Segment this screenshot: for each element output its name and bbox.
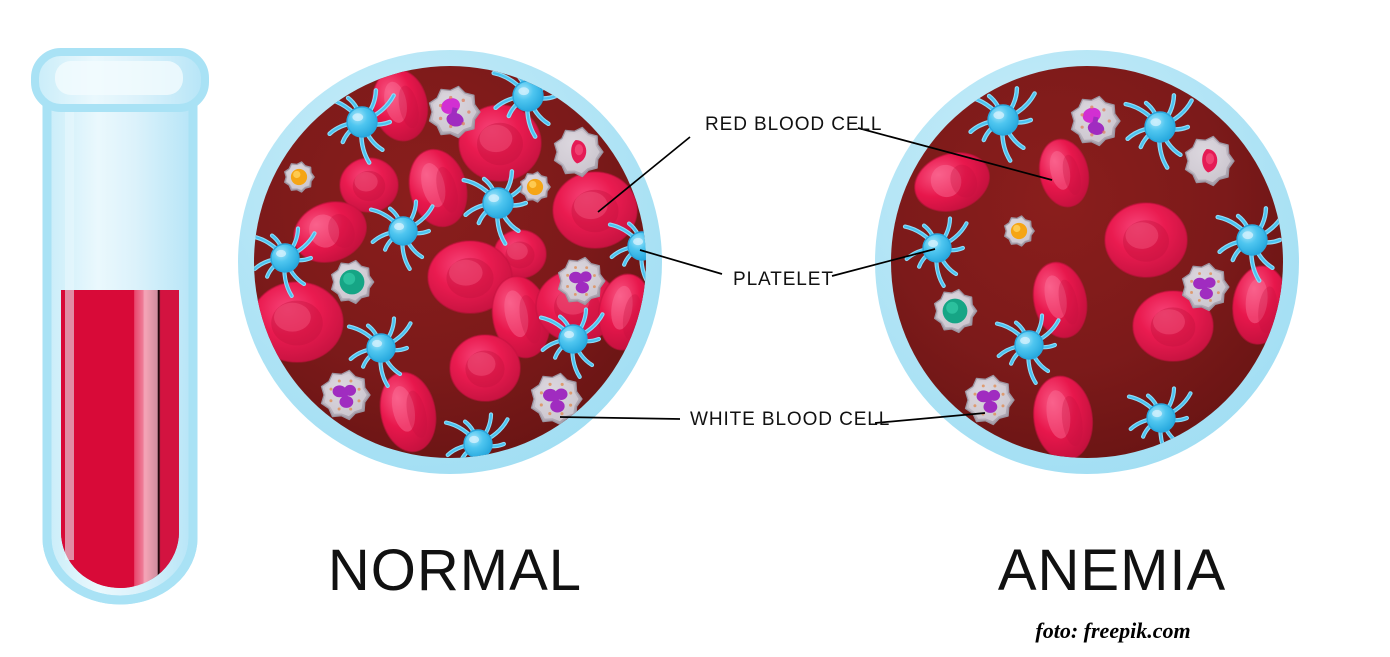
panel-anemia <box>875 50 1299 474</box>
red-blood-cell <box>553 172 637 248</box>
label-white-blood-cell: WHITE BLOOD CELL <box>690 409 890 430</box>
blood-comparison-illustration: RED BLOOD CELL PLATELET WHITE BLOOD CELL… <box>0 0 1390 657</box>
diagram-canvas: RED BLOOD CELL PLATELET WHITE BLOOD CELL… <box>0 0 1390 657</box>
tube-rim-highlight <box>55 61 183 95</box>
panel-title-normal: NORMAL <box>328 538 582 603</box>
blood-test-tube <box>35 52 205 600</box>
red-blood-cell <box>1105 203 1187 277</box>
panel-title-anemia: ANEMIA <box>998 538 1226 603</box>
tube-glass-highlight <box>65 100 74 560</box>
label-red-blood-cell: RED BLOOD CELL <box>705 114 882 135</box>
label-platelet: PLATELET <box>733 269 834 290</box>
tube-blood-highlight <box>144 290 158 600</box>
red-blood-cell <box>450 335 520 401</box>
image-credit: foto: freepik.com <box>1035 618 1190 643</box>
